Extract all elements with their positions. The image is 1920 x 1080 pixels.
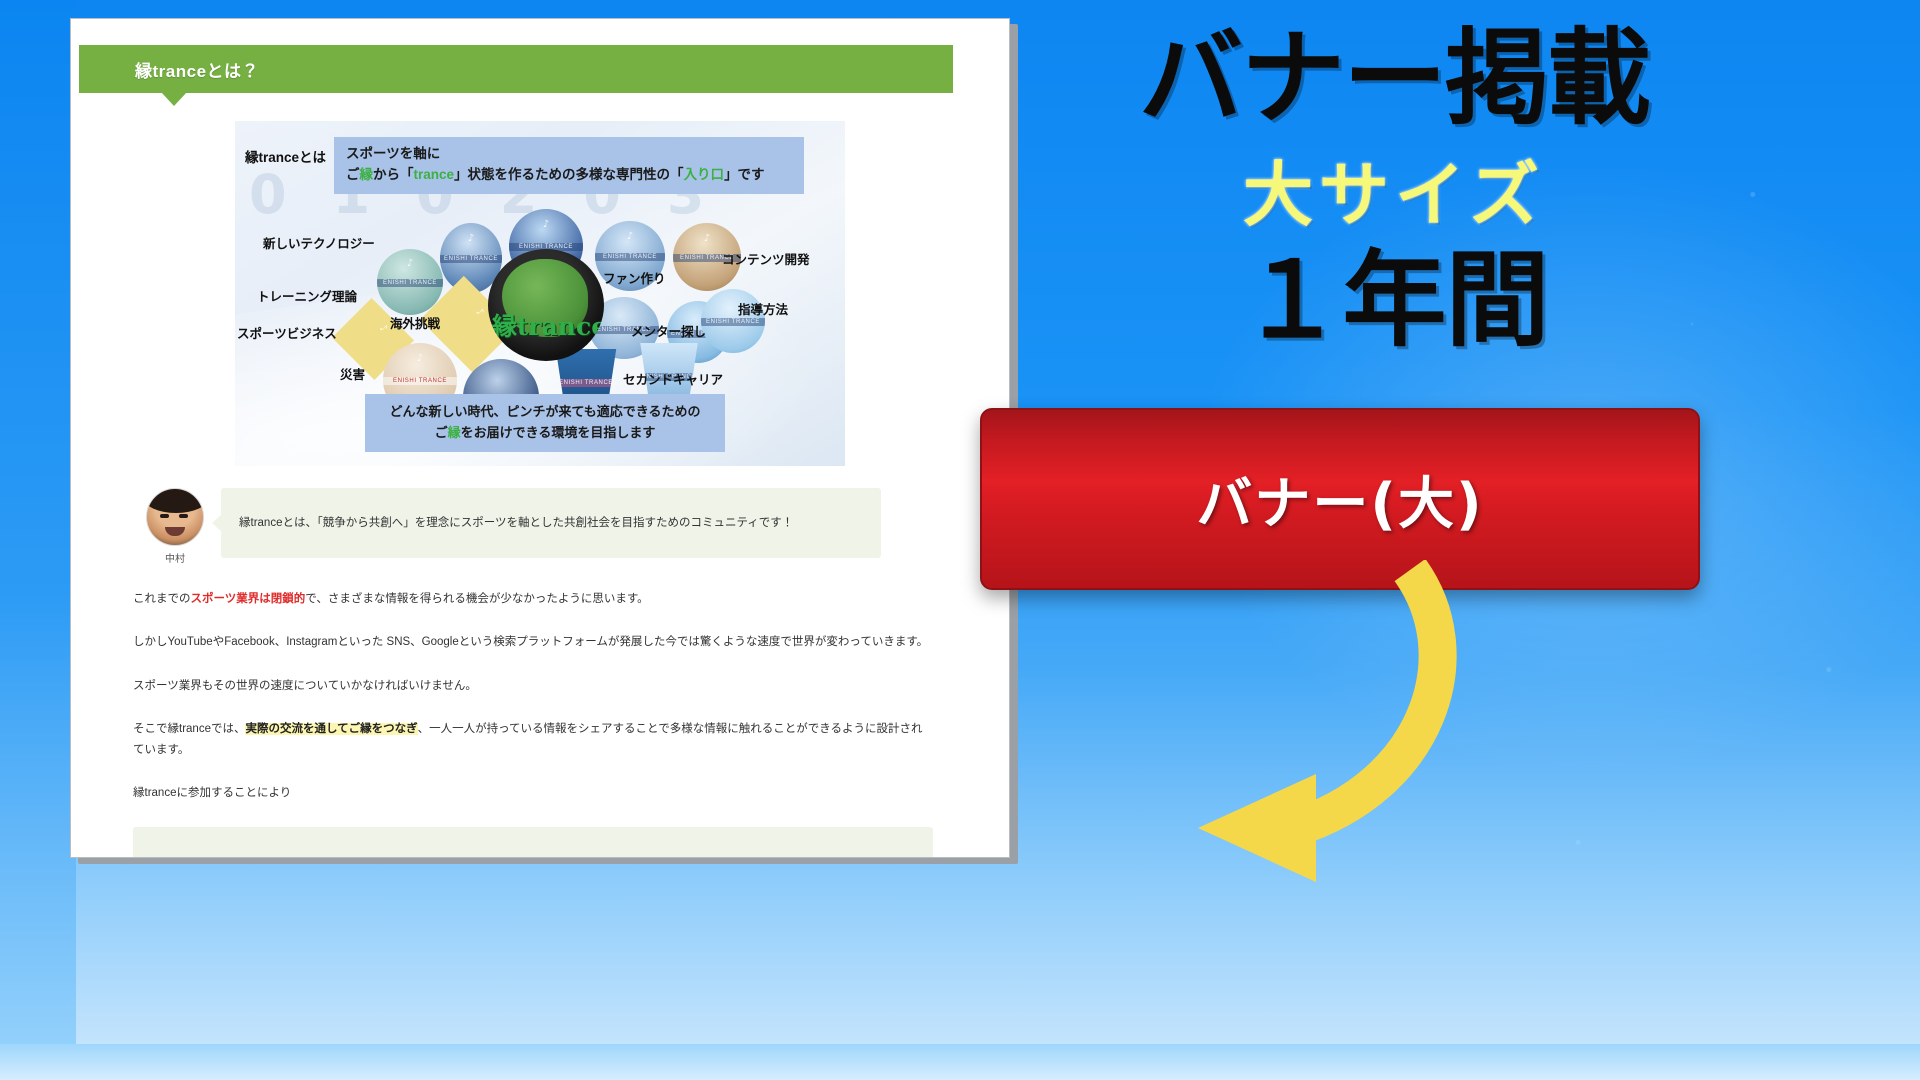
article-text-run: しかしYouTubeやFacebook、Instagramといった SNS、Go… [133,636,928,648]
infographic-footer-line1: どんな新しい時代、ピンチが来ても適応できるための [375,402,715,423]
comment-balloon: 縁tranceとは、「競争から共創へ」を理念にスポーツを軸とした共創社会を目指す… [221,488,881,558]
infographic-label: 指導方法 [738,299,788,318]
page-title: 縁tranceとは？ [135,57,259,82]
article-text-run: で、さまざまな情報を得られる機会が少なかったように思います。 [305,593,648,605]
article-text-run: スポーツ業界もその世界の速度についていかなければいけません。 [133,680,477,692]
article-paragraph: これまでのスポーツ業界は閉鎖的で、さまざまな情報を得られる機会が少なかったように… [133,589,933,610]
curved-arrow-icon [1080,560,1500,940]
infographic-label: 海外挑戦 [390,313,440,332]
article-text-run: 実際の交流を通してご縁をつなぎ [245,723,417,735]
infographic-center-logo-text: 縁trance [488,307,604,343]
article-text-run: これまでの [133,593,191,605]
infographic-label: トレーニング理論 [257,286,357,305]
infographic-label: セカンドキャリア [623,369,723,388]
infographic-footer-line2: ご縁をお届けできる環境を目指します [375,423,715,444]
comment-author-name: 中村 [139,550,211,565]
infographic-label: メンター探し [631,321,706,340]
infographic-label: 新しいテクノロジー [263,233,375,252]
promo-stage: 縁tranceとは？ 010203 縁tranceとは スポーツを軸に ご縁から… [0,0,1920,1080]
avatar-eye-right [179,514,188,518]
infographic-header-label: 縁tranceとは [241,137,334,166]
article-paragraph: 縁tranceに参加することにより [133,783,933,804]
infographic-label: コンテンツ開発 [722,249,810,268]
page-heading-bar: 縁tranceとは？ [79,45,953,93]
article-paragraph: しかしYouTubeやFacebook、Instagramといった SNS、Go… [133,632,933,653]
infographic: 010203 縁tranceとは スポーツを軸に ご縁から「trance」状態を… [235,121,845,466]
comment-text: 縁tranceとは、「競争から共創へ」を理念にスポーツを軸とした共創社会を目指す… [239,514,793,532]
promo-panel: バナー掲載 大サイズ １年間 バナー(大) [1020,0,1920,1080]
article-text-run: 縁tranceに参加することにより [133,787,291,799]
comment-avatar-wrap: 中村 [139,488,211,565]
infographic-header-line1: スポーツを軸に [346,144,790,165]
article-text-run: スポーツ業界は閉鎖的 [191,593,306,605]
infographic-header-body: スポーツを軸に ご縁から「trance」状態を作るための多様な専門性の「入り口」… [334,137,804,194]
article-paragraph: そこで縁tranceでは、実際の交流を通してご縁をつなぎ、一人一人が持っている情… [133,719,933,762]
banner-large-button-label: バナー(大) [1196,459,1483,540]
infographic-label: ファン作り [603,268,666,287]
infographic-header-line2: ご縁から「trance」状態を作るための多様な専門性の「入り口」です [346,165,790,186]
avatar-eye-left [160,514,169,518]
infographic-footer: どんな新しい時代、ピンチが来ても適応できるための ご縁をお届けできる環境を目指し… [365,394,725,452]
infographic-label: スポーツビジネス [237,323,337,342]
promo-duration: １年間 [1064,248,1724,352]
article-paragraph: スポーツ業界もその世界の速度についていかなければいけません。 [133,676,933,697]
avatar-hair [146,488,204,513]
article-text-run: そこで縁tranceでは、 [133,723,245,735]
background-left-strip [0,0,76,1080]
comment-block: 中村 縁tranceとは、「競争から共創へ」を理念にスポーツを軸とした共創社会を… [139,488,953,565]
article-body: これまでのスポーツ業界は閉鎖的で、さまざまな情報を得られる機会が少なかったように… [133,589,933,805]
website-screenshot: 縁tranceとは？ 010203 縁tranceとは スポーツを軸に ご縁から… [70,18,1010,858]
avatar [146,488,204,546]
article-bottom-stub [133,827,933,857]
avatar-mouth [165,527,185,536]
infographic-header: 縁tranceとは スポーツを軸に ご縁から「trance」状態を作るための多様… [241,137,804,194]
infographic-center-logo: 縁trance [488,249,604,361]
promo-headline: バナー掲載 [1064,26,1724,130]
promo-subheadline: 大サイズ [1064,160,1724,230]
infographic-label: 災害 [340,364,365,383]
heading-arrow-icon [161,92,187,106]
